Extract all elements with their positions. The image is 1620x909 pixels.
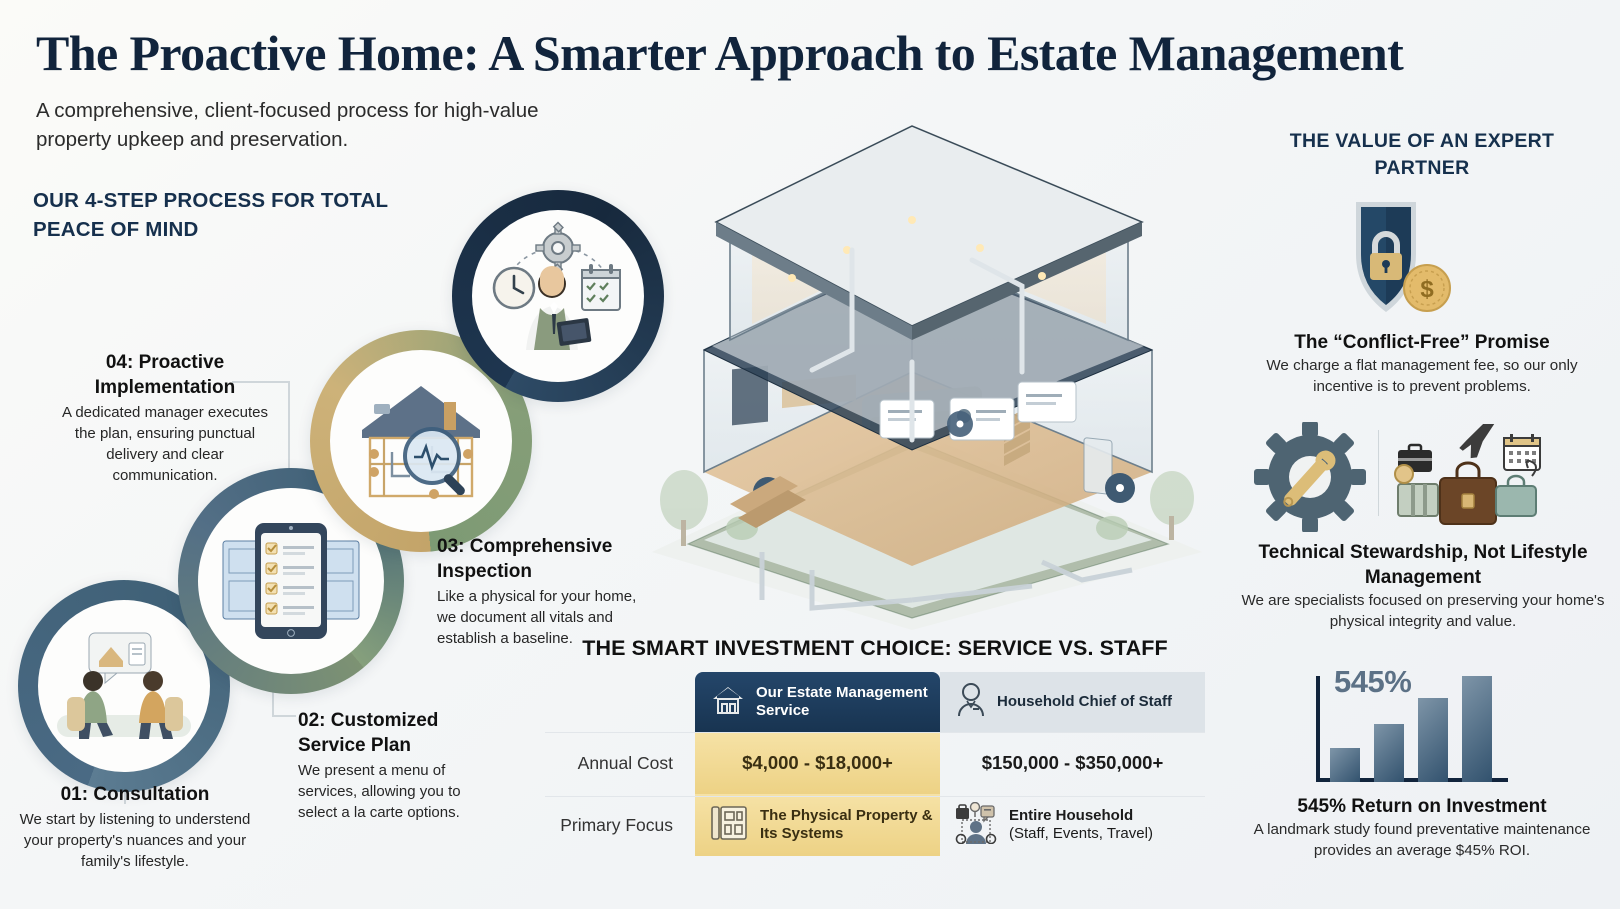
step-text-01: 01: Consultation We start by listening t… xyxy=(10,782,260,872)
promise-body: We charge a flat management fee, so our … xyxy=(1238,355,1606,397)
stewardship-body: We are specialists focused on preserving… xyxy=(1228,590,1618,632)
table-header-staff-label: Household Chief of Staff xyxy=(997,693,1172,711)
step-04-description: A dedicated manager executes the plan, e… xyxy=(60,402,270,486)
step-03-title: 03: Comprehensive Inspection xyxy=(437,534,652,584)
stewardship-block: Technical Stewardship, Not Lifestyle Man… xyxy=(1228,540,1618,632)
step-01-title: 01: Consultation xyxy=(10,782,260,807)
consultation-meeting-icon xyxy=(38,600,210,772)
roi-body: A landmark study found preventative main… xyxy=(1232,819,1612,861)
table-row-label-primary-focus: Primary Focus xyxy=(545,794,695,856)
table-cell-staff-primary-focus-main: Entire Household xyxy=(1009,807,1153,825)
roi-title: 545% Return on Investment xyxy=(1232,794,1612,819)
step-01-description: We start by listening to understend your… xyxy=(10,809,260,872)
floorplan-icon xyxy=(709,803,749,848)
table-cell-staff-primary-focus: Entire Household (Staff, Events, Travel) xyxy=(940,794,1205,856)
smart-home-cutaway-illustration xyxy=(612,100,1242,630)
roi-chart-label: 545% xyxy=(1334,664,1411,700)
step-circle-04[interactable] xyxy=(452,190,664,402)
table-cell-staff-primary-focus-sub: (Staff, Events, Travel) xyxy=(1009,825,1153,843)
divider-vertical xyxy=(1378,430,1379,516)
household-staff-icon xyxy=(954,802,998,849)
page-subtitle: A comprehensive, client-focused process … xyxy=(36,96,596,154)
table-cell-staff-annual-cost: $150,000 - $350,000+ xyxy=(940,732,1205,794)
table-header-service[interactable]: Our Estate Management Service xyxy=(695,672,940,732)
process-section-heading: OUR 4-STEP PROCESS FOR TOTAL PEACE OF MI… xyxy=(33,186,453,244)
comparison-table: Our Estate Management Service Household … xyxy=(545,672,1205,864)
step-02-title: 02: Customized Service Plan xyxy=(298,708,488,758)
chart-bar-4 xyxy=(1462,676,1492,782)
table-header-blank xyxy=(545,672,695,732)
infographic-canvas: The Proactive Home: A Smarter Approach t… xyxy=(0,0,1620,909)
value-section-heading: THE VALUE OF AN EXPERT PARTNER xyxy=(1262,128,1582,182)
stewardship-title: Technical Stewardship, Not Lifestyle Man… xyxy=(1228,540,1618,590)
luggage-travel-calendar-icon xyxy=(1392,424,1548,537)
chart-bar-1 xyxy=(1330,748,1360,782)
step-04-title: 04: Proactive Implementation xyxy=(60,350,270,400)
step-02-description: We present a menu of services, allowing … xyxy=(298,760,488,823)
promise-block: The “Conflict-Free” Promise We charge a … xyxy=(1238,330,1606,397)
roi-block: 545% Return on Investment A landmark stu… xyxy=(1232,794,1612,861)
chart-bar-3 xyxy=(1418,698,1448,782)
gear-wrench-icon xyxy=(1250,422,1370,537)
comparison-heading: THE SMART INVESTMENT CHOICE: SERVICE VS.… xyxy=(545,636,1205,661)
table-cell-service-primary-focus: The Physical Property & Its Systems xyxy=(695,794,940,856)
step-text-03: 03: Comprehensive Inspection Like a phys… xyxy=(437,534,652,649)
house-outline-icon xyxy=(711,684,745,721)
chart-y-axis xyxy=(1316,676,1320,782)
step-text-04: 04: Proactive Implementation A dedicated… xyxy=(60,350,270,486)
svg-text:$: $ xyxy=(1420,276,1434,303)
promise-title: The “Conflict-Free” Promise xyxy=(1238,330,1606,355)
page-title: The Proactive Home: A Smarter Approach t… xyxy=(36,24,1556,82)
table-row-label-annual-cost: Annual Cost xyxy=(545,732,695,794)
step-text-02: 02: Customized Service Plan We present a… xyxy=(298,708,488,823)
table-header-service-label: Our Estate Management Service xyxy=(756,684,940,720)
table-header-staff[interactable]: Household Chief of Staff xyxy=(940,672,1205,732)
table-divider-2 xyxy=(545,796,1205,797)
person-staff-icon xyxy=(956,683,986,722)
connector-step-02-h xyxy=(272,715,296,717)
manager-clock-calendar-icon xyxy=(472,210,644,382)
table-cell-service-annual-cost: $4,000 - $18,000+ xyxy=(695,732,940,794)
table-divider-1 xyxy=(545,732,1205,733)
shield-lock-dollar-icon: $ xyxy=(1300,196,1468,327)
roi-bar-chart: 545% xyxy=(1288,668,1538,788)
table-cell-service-primary-focus-label: The Physical Property & Its Systems xyxy=(760,807,940,843)
house-magnifier-icon xyxy=(330,350,512,532)
chart-bar-2 xyxy=(1374,724,1404,782)
